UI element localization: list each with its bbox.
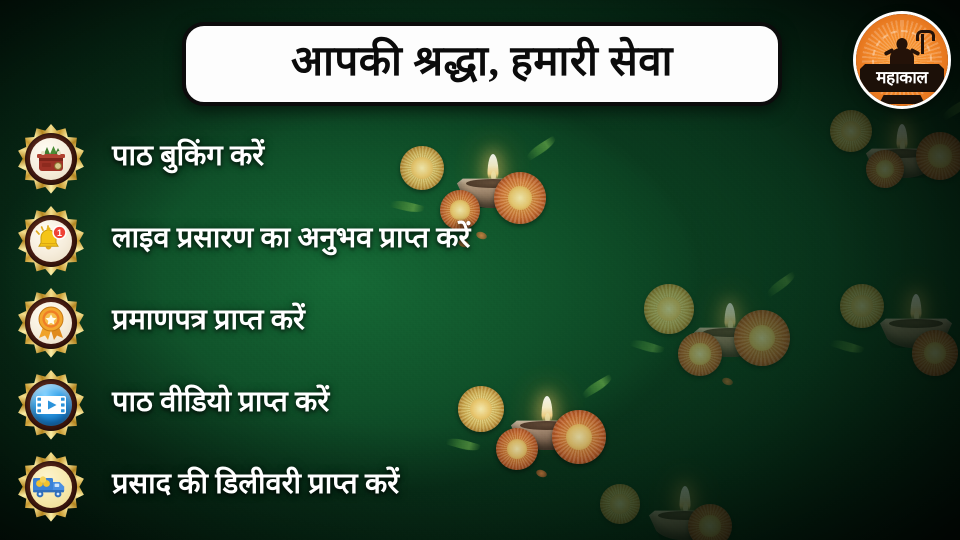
badge-disc bbox=[30, 138, 72, 180]
service-item-certificate[interactable]: प्रमाणपत्र प्राप्त करें bbox=[0, 282, 960, 364]
service-label: प्रमाणपत्र प्राप्त करें bbox=[112, 306, 305, 340]
promo-banner-stage: आपकी श्रद्धा, हमारी सेवा महाकाल bbox=[0, 0, 960, 540]
service-label: पाठ वीडियो प्राप्त करें bbox=[112, 388, 329, 422]
logo-base-decor bbox=[879, 95, 925, 104]
service-item-live-darshan[interactable]: 1 लाइव प्रसारण का अनुभव प्राप्त करें bbox=[0, 200, 960, 282]
badge-disc bbox=[30, 466, 72, 508]
video-play-icon bbox=[35, 394, 67, 416]
service-label: लाइव प्रसारण का अनुभव प्राप्त करें bbox=[112, 224, 470, 258]
service-badge-frame bbox=[16, 124, 86, 194]
service-list: पाठ बुकिंग करें 1 bbox=[0, 118, 960, 528]
service-badge-frame bbox=[16, 288, 86, 358]
logo-wordmark: महाकाल bbox=[860, 64, 944, 92]
service-badge-frame: 1 bbox=[16, 206, 86, 276]
bell-notification-icon: 1 bbox=[34, 225, 68, 257]
service-item-paath-video[interactable]: पाठ वीडियो प्राप्त करें bbox=[0, 364, 960, 446]
svg-text:1: 1 bbox=[57, 228, 62, 238]
service-label: पाठ बुकिंग करें bbox=[112, 142, 264, 176]
badge-disc bbox=[30, 384, 72, 426]
page-title: आपकी श्रद्धा, हमारी सेवा bbox=[291, 41, 673, 87]
logo-brand-text: महाकाल bbox=[876, 69, 927, 88]
service-badge-frame bbox=[16, 370, 86, 440]
award-rosette-icon bbox=[35, 306, 67, 340]
service-badge-frame bbox=[16, 452, 86, 522]
delivery-truck-icon bbox=[32, 474, 70, 500]
trishul-icon bbox=[921, 34, 924, 54]
badge-disc bbox=[30, 302, 72, 344]
service-item-paath-booking[interactable]: पाठ बुकिंग करें bbox=[0, 118, 960, 200]
badge-disc: 1 bbox=[30, 220, 72, 262]
service-label: प्रसाद की डिलीवरी प्राप्त करें bbox=[112, 470, 399, 504]
havan-kund-icon bbox=[34, 144, 68, 174]
mahakal-logo[interactable]: महाकाल bbox=[856, 14, 948, 106]
title-banner: आपकी श्रद्धा, हमारी सेवा bbox=[182, 22, 782, 106]
service-item-prasad-delivery[interactable]: प्रसाद की डिलीवरी प्राप्त करें bbox=[0, 446, 960, 528]
